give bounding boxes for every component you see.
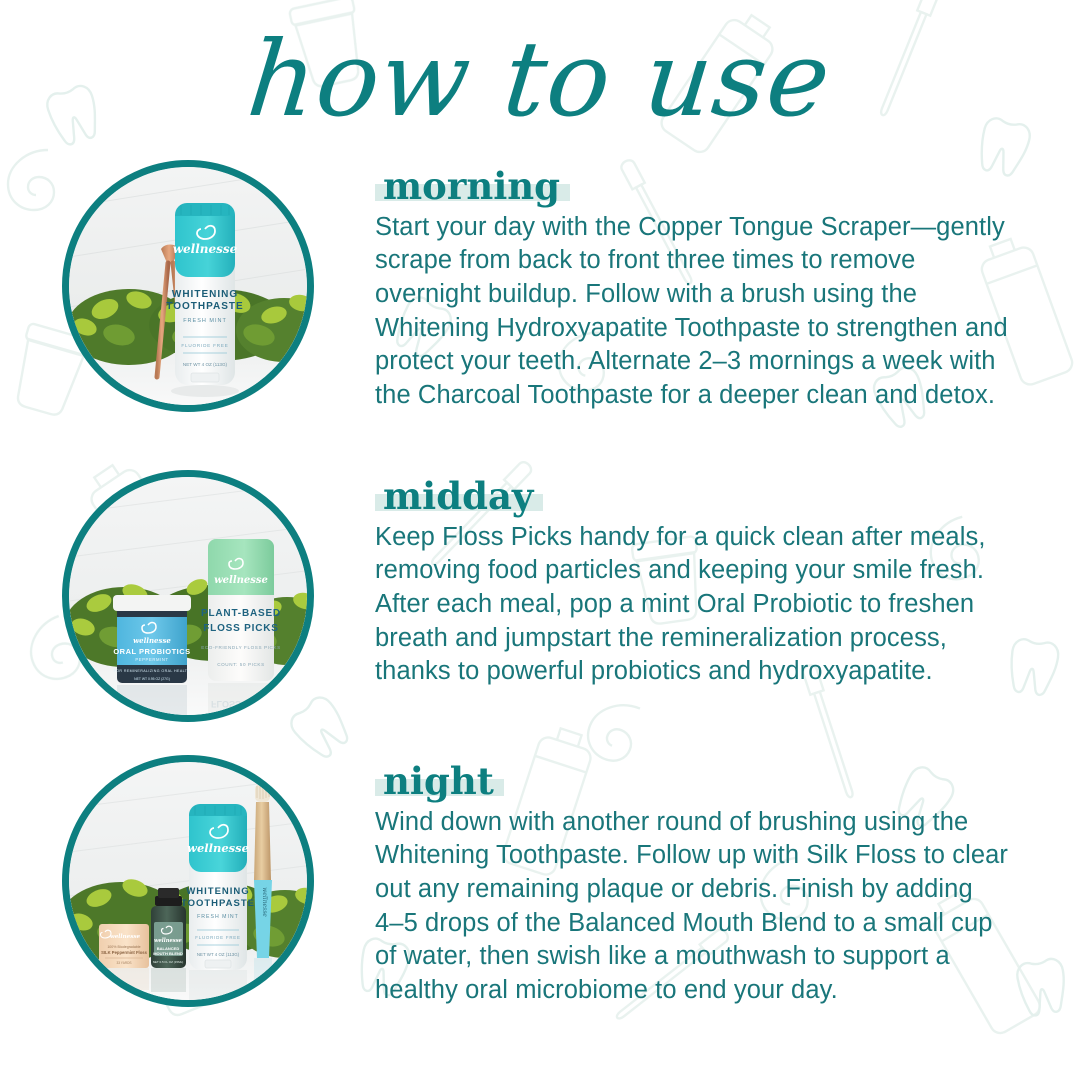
section-body-night: Wind down with another round of brushing…: [375, 806, 1008, 1008]
svg-text:COUNT: 50 PICKS: COUNT: 50 PICKS: [217, 662, 265, 667]
section-night: wellnesse wellnesse WHITEN: [0, 755, 1080, 1008]
svg-text:wellnesse: wellnesse: [133, 636, 171, 645]
svg-text:FLUORIDE FREE: FLUORIDE FREE: [181, 343, 228, 348]
svg-text:wellnesse: wellnesse: [187, 841, 249, 855]
text-column-midday: midday Keep Floss Picks handy for a quic…: [375, 470, 1080, 689]
svg-text:wellnesse: wellnesse: [172, 242, 237, 256]
photo-column-midday: wellnesse PLANT-BASED FLOSS PICKS ECO-FR…: [0, 470, 375, 722]
photo-column-morning: wellnesse WHITENING TOOTHPASTE FRESH MIN…: [0, 160, 375, 412]
infographic-page: how to use: [0, 0, 1080, 1080]
section-midday: wellnesse PLANT-BASED FLOSS PICKS ECO-FR…: [0, 470, 1080, 722]
svg-text:FLOSS PICKS: FLOSS PICKS: [203, 623, 278, 634]
svg-text:WHITENING: WHITENING: [186, 886, 249, 897]
svg-text:wellnesse: wellnesse: [109, 934, 140, 940]
photo-circle-morning: wellnesse WHITENING TOOTHPASTE FRESH MIN…: [62, 160, 314, 412]
svg-text:wellnesse: wellnesse: [214, 575, 268, 586]
svg-text:PEPPERMINT: PEPPERMINT: [135, 657, 168, 662]
svg-text:NET 0.5 FL OZ (15ML): NET 0.5 FL OZ (15ML): [152, 960, 183, 964]
svg-text:FRESH MINT: FRESH MINT: [197, 914, 239, 920]
product-photo-toothpaste-scraper: wellnesse WHITENING TOOTHPASTE FRESH MIN…: [69, 167, 307, 405]
photo-column-night: wellnesse wellnesse WHITEN: [0, 755, 375, 1007]
photo-morning: wellnesse WHITENING TOOTHPASTE FRESH MIN…: [69, 167, 307, 405]
heading-wrap-morning: morning: [375, 166, 570, 207]
svg-text:FRESH MINT: FRESH MINT: [183, 318, 227, 324]
photo-night: wellnesse wellnesse WHITEN: [69, 762, 307, 1000]
svg-text:wellnesse: wellnesse: [261, 887, 268, 917]
section-heading-night: night: [383, 759, 494, 803]
svg-text:WHITENING: WHITENING: [171, 289, 237, 300]
product-photo-probiotics-flosspicks: wellnesse PLANT-BASED FLOSS PICKS ECO-FR…: [69, 477, 307, 715]
svg-text:FLUORIDE FREE: FLUORIDE FREE: [195, 935, 241, 940]
section-heading-morning: morning: [383, 164, 560, 208]
svg-text:NET WT 0.95 OZ (27G): NET WT 0.95 OZ (27G): [134, 677, 170, 681]
text-column-night: night Wind down with another round of br…: [375, 755, 1080, 1008]
svg-text:33 YARDS: 33 YARDS: [116, 961, 131, 965]
svg-text:PLANT-BASED: PLANT-BASED: [201, 608, 281, 619]
svg-text:FLOSS PICKS: FLOSS PICKS: [210, 699, 270, 709]
svg-text:MOUTH BLEND: MOUTH BLEND: [153, 951, 183, 956]
section-morning: wellnesse WHITENING TOOTHPASTE FRESH MIN…: [0, 160, 1080, 413]
product-photo-night-routine: wellnesse wellnesse WHITEN: [69, 762, 307, 1000]
heading-wrap-night: night: [375, 761, 504, 802]
svg-text:wellnesse: wellnesse: [154, 938, 183, 944]
svg-text:NET WT 4 OZ (113G): NET WT 4 OZ (113G): [196, 952, 239, 957]
section-body-morning: Start your day with the Copper Tongue Sc…: [375, 211, 1008, 413]
page-title: how to use: [243, 22, 836, 136]
photo-circle-night: wellnesse wellnesse WHITEN: [62, 755, 314, 1007]
svg-text:ECO-FRIENDLY FLOSS PICKS: ECO-FRIENDLY FLOSS PICKS: [201, 645, 281, 650]
svg-text:TOOTHPASTE: TOOTHPASTE: [180, 898, 254, 909]
text-column-morning: morning Start your day with the Copper T…: [375, 160, 1080, 413]
heading-wrap-midday: midday: [375, 476, 543, 517]
photo-midday: wellnesse PLANT-BASED FLOSS PICKS ECO-FR…: [69, 477, 307, 715]
svg-text:100% Biodegradable: 100% Biodegradable: [107, 945, 140, 949]
section-heading-midday: midday: [383, 474, 533, 518]
svg-text:ORAL PROBIOTICS: ORAL PROBIOTICS: [113, 647, 190, 656]
section-body-midday: Keep Floss Picks handy for a quick clean…: [375, 521, 1008, 689]
photo-circle-midday: wellnesse PLANT-BASED FLOSS PICKS ECO-FR…: [62, 470, 314, 722]
svg-text:NET WT 4 OZ (113G): NET WT 4 OZ (113G): [182, 362, 227, 367]
svg-text:SILK Peppermint Floss: SILK Peppermint Floss: [101, 950, 148, 955]
svg-text:TOOTHPASTE: TOOTHPASTE: [166, 301, 243, 312]
svg-text:FOR REMINERALIZING ORAL HEALTH: FOR REMINERALIZING ORAL HEALTH: [113, 669, 190, 673]
page-title-wrapper: how to use: [0, 22, 1080, 136]
